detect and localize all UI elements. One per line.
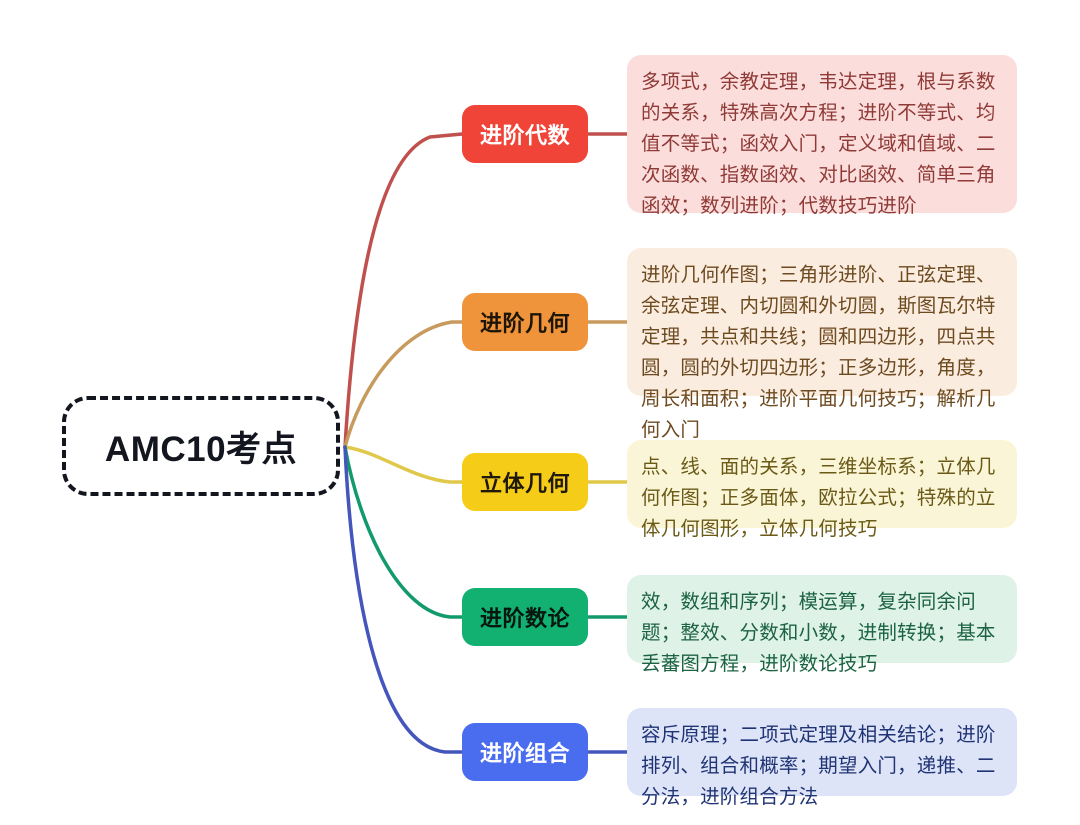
detail-box-advanced-geometry: 进阶几何作图；三角形进阶、正弦定理、余弦定理、内切圆和外切圆，斯图瓦尔特定理，共… [627,248,1017,396]
branch-label-advanced-algebra: 进阶代数 [480,118,570,150]
connector-advanced-number-theory [345,447,462,617]
detail-text-advanced-geometry: 进阶几何作图；三角形进阶、正弦定理、余弦定理、内切圆和外切圆，斯图瓦尔特定理，共… [641,260,1001,446]
branch-label-advanced-combinatorics: 进阶组合 [480,736,570,768]
branch-label-solid-geometry: 立体几何 [480,466,570,498]
branch-pill-advanced-algebra[interactable]: 进阶代数 [462,105,588,163]
root-node-label: AMC10考点 [105,421,297,472]
detail-box-advanced-algebra: 多项式，余教定理，韦达定理，根与系数的关系，特殊高次方程；进阶不等式、均值不等式… [627,55,1017,213]
mindmap-canvas: AMC10考点 进阶代数 多项式，余教定理，韦达定理，根与系数的关系，特殊高次方… [0,0,1080,825]
branch-pill-advanced-combinatorics[interactable]: 进阶组合 [462,723,588,781]
branch-pill-advanced-number-theory[interactable]: 进阶数论 [462,588,588,646]
detail-box-solid-geometry: 点、线、面的关系，三维坐标系；立体几何作图；正多面体，欧拉公式；特殊的立体几何图… [627,440,1017,528]
branch-label-advanced-geometry: 进阶几何 [480,306,570,338]
detail-text-advanced-combinatorics: 容斥原理；二项式定理及相关结论；进阶排列、组合和概率；期望入门，递推、二分法，进… [641,720,1001,813]
connector-solid-geometry [345,447,462,482]
detail-box-advanced-combinatorics: 容斥原理；二项式定理及相关结论；进阶排列、组合和概率；期望入门，递推、二分法，进… [627,708,1017,796]
branch-pill-solid-geometry[interactable]: 立体几何 [462,453,588,511]
detail-text-advanced-algebra: 多项式，余教定理，韦达定理，根与系数的关系，特殊高次方程；进阶不等式、均值不等式… [641,67,1001,222]
detail-box-advanced-number-theory: 效，数组和序列；模运算，复杂同余问题；整效、分数和小数，进制转换；基本丢蕃图方程… [627,575,1017,663]
connector-advanced-geometry [345,322,462,447]
root-node[interactable]: AMC10考点 [62,396,340,496]
branch-label-advanced-number-theory: 进阶数论 [480,601,570,633]
detail-text-solid-geometry: 点、线、面的关系，三维坐标系；立体几何作图；正多面体，欧拉公式；特殊的立体几何图… [641,452,1001,545]
branch-pill-advanced-geometry[interactable]: 进阶几何 [462,293,588,351]
connector-advanced-algebra [345,134,462,447]
connector-advanced-combinatorics [345,447,462,752]
detail-text-advanced-number-theory: 效，数组和序列；模运算，复杂同余问题；整效、分数和小数，进制转换；基本丢蕃图方程… [641,587,1001,680]
